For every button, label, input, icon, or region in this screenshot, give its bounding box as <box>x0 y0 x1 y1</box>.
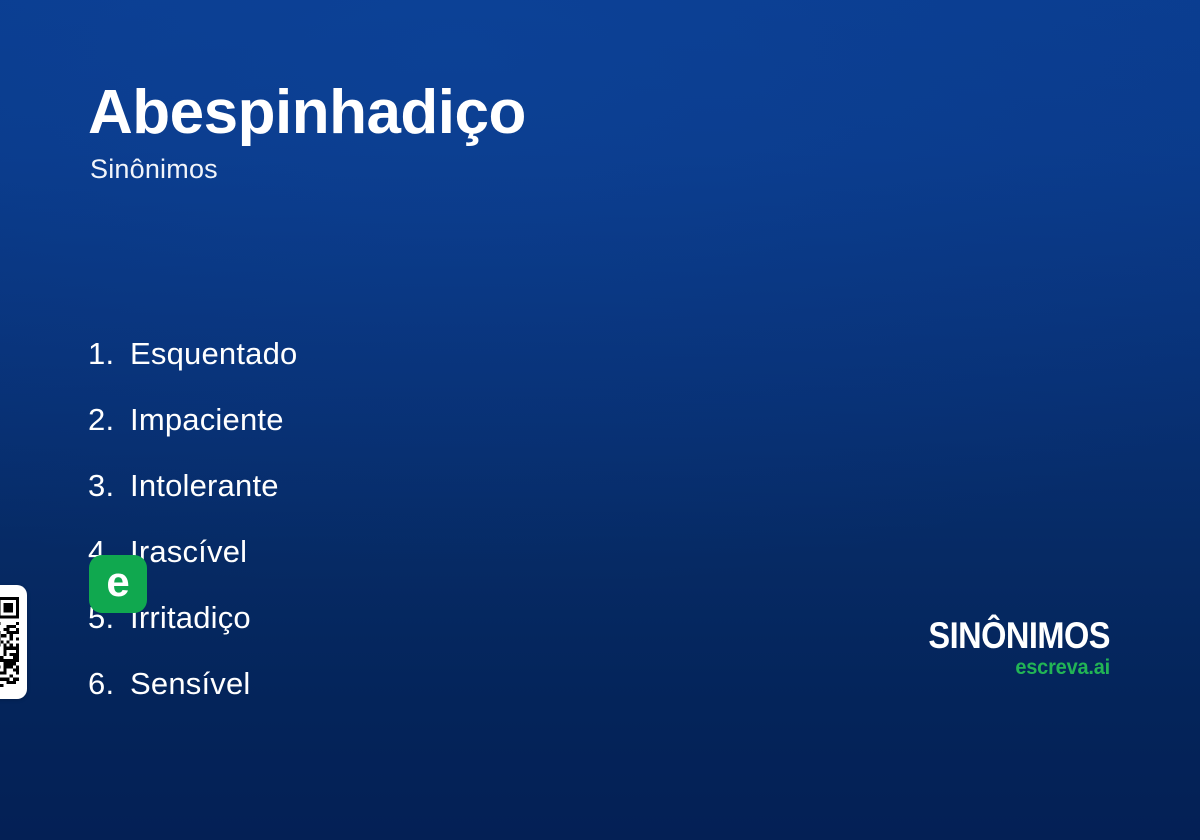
list-item: 2. Impaciente <box>88 403 908 469</box>
brand-tagline: escreva.ai <box>0 657 1110 679</box>
escreva-logo-mark[interactable]: e <box>89 555 147 613</box>
list-item-index: 2. <box>88 403 130 437</box>
list-item-index: 3. <box>88 469 130 503</box>
list-item: 1. Esquentado <box>88 337 908 403</box>
list-item-label: Irascível <box>130 535 247 569</box>
brand-wordmark: SINÔNIMOS <box>54 617 1110 655</box>
headline-block: Abespinhadiço Sinônimos <box>88 82 948 183</box>
list-item-label: Intolerante <box>130 469 279 503</box>
page-title: Abespinhadiço <box>88 82 948 144</box>
brand-lockup[interactable]: SINÔNIMOS escreva.ai <box>0 617 1110 679</box>
synonym-card: Abespinhadiço Sinônimos 1. Esquentado 2.… <box>0 0 1200 840</box>
list-item-label: Esquentado <box>130 337 297 371</box>
list-item: 4. Irascível <box>88 535 908 601</box>
page-subtitle: Sinônimos <box>90 156 948 183</box>
list-item-label: Impaciente <box>130 403 284 437</box>
brand-mark-letter: e <box>106 561 129 603</box>
list-item: 3. Intolerante <box>88 469 908 535</box>
list-item-index: 1. <box>88 337 130 371</box>
